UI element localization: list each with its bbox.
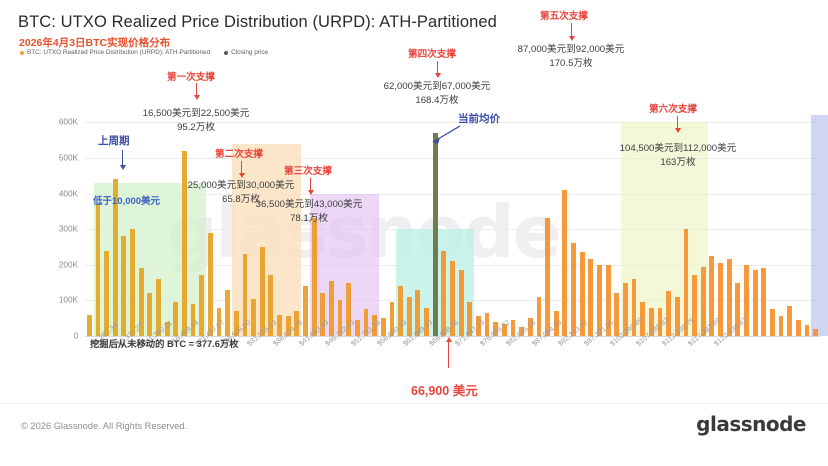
urpd-bar[interactable] — [744, 265, 749, 336]
urpd-bar[interactable] — [130, 229, 135, 336]
annotation-fourth-support-line1: 62,000美元到67,000美元 — [377, 78, 497, 92]
legend-dot-icon — [20, 51, 24, 55]
urpd-bar[interactable] — [459, 270, 464, 336]
footer-divider — [0, 403, 828, 404]
urpd-bar[interactable] — [441, 251, 446, 337]
urpd-bar[interactable] — [251, 299, 256, 336]
urpd-bar[interactable] — [537, 297, 542, 336]
annotation-prev-cycle-title: 上周期 — [98, 133, 130, 148]
annotation-first-support-line2: 95.2万枚 — [136, 119, 256, 133]
urpd-bar[interactable] — [147, 293, 152, 336]
annotation-fifth-support-title: 第五次支撑 — [540, 8, 588, 22]
urpd-bar[interactable] — [208, 233, 213, 336]
current-price-label: 66,900 美元 — [411, 380, 478, 399]
annotation-sixth-support-title: 第六次支撑 — [649, 101, 697, 115]
urpd-bar[interactable] — [225, 290, 230, 336]
page-subtitle: 2026年4月3日BTC实现价格分布 — [19, 35, 170, 50]
annotation-second-support-title: 第二次支撑 — [215, 146, 263, 160]
annotation-first-support-title: 第一次支撑 — [167, 69, 215, 83]
urpd-bar[interactable] — [770, 309, 775, 336]
annotation-fourth-support-arrow-icon — [437, 61, 438, 74]
urpd-bar[interactable] — [614, 293, 619, 336]
annotation-prev-cycle-arrow-icon — [122, 150, 123, 166]
mined-never-moved-note: 挖掘后从未移动的 BTC = 377.6万枚 — [90, 336, 239, 350]
y-axis-tick-label: 300K — [59, 225, 78, 234]
urpd-bar[interactable] — [96, 204, 101, 336]
legend-item-closing-price[interactable]: Closing price — [224, 49, 268, 56]
annotation-third-support-arrow-icon — [310, 178, 311, 191]
page-title: BTC: UTXO Realized Price Distribution (U… — [18, 13, 497, 32]
y-axis-tick-label: 200K — [59, 260, 78, 269]
urpd-bar[interactable] — [545, 218, 550, 336]
legend-item-urpd[interactable]: BTC: UTXO Realized Price Distribution (U… — [20, 49, 210, 56]
current-price-bar[interactable] — [433, 133, 438, 336]
annotation-sixth-support-line2: 163万枚 — [608, 154, 748, 168]
annotation-current-avg-price-title: 当前均价 — [458, 111, 500, 126]
annotation-sixth-support-line1: 104,500美元到112,000美元 — [608, 140, 748, 154]
urpd-bar[interactable] — [87, 315, 92, 336]
chart-page: BTC: UTXO Realized Price Distribution (U… — [0, 0, 828, 466]
copyright-text: © 2026 Glassnode. All Rights Reserved. — [21, 421, 187, 431]
y-axis-tick-label: 600K — [59, 118, 78, 127]
urpd-bar[interactable] — [666, 291, 671, 336]
annotation-third-support-line2: 78.1万枚 — [249, 210, 369, 224]
annotation-third-support-title: 第三次支撑 — [284, 163, 332, 177]
annotation-prev-cycle-inline-label: 低于10,000美元 — [93, 193, 160, 207]
urpd-bar[interactable] — [407, 297, 412, 336]
urpd-bar[interactable] — [779, 316, 784, 336]
urpd-bar[interactable] — [303, 286, 308, 336]
y-axis-tick-label: 0 — [73, 332, 78, 341]
y-axis-tick-label: 400K — [59, 189, 78, 198]
annotation-current-avg-price-arrow-icon — [428, 124, 462, 146]
annotation-first-support-line1: 16,500美元到22,500美元 — [136, 105, 256, 119]
glassnode-logo: glassnode — [696, 412, 806, 436]
urpd-bar[interactable] — [692, 275, 697, 336]
annotation-fourth-support-line2: 168.4万枚 — [377, 92, 497, 106]
fifth-support-band — [811, 115, 828, 336]
legend-label-urpd: BTC: UTXO Realized Price Distribution (U… — [27, 49, 210, 56]
annotation-fifth-support-line1: 87,000美元到92,000美元 — [511, 41, 631, 55]
urpd-bar[interactable] — [813, 329, 818, 336]
urpd-bar[interactable] — [805, 325, 810, 336]
current-price-marker — [448, 341, 449, 368]
urpd-bar[interactable] — [787, 306, 792, 336]
legend-dot-icon — [224, 51, 228, 55]
urpd-bar[interactable] — [329, 281, 334, 336]
annotation-fifth-support-arrow-icon — [571, 23, 572, 37]
legend-label-closing-price: Closing price — [231, 49, 268, 56]
annotation-fourth-support-title: 第四次支撑 — [408, 46, 456, 60]
annotation-third-support-line1: 36,500美元到43,000美元 — [249, 196, 369, 210]
annotation-fifth-support-line2: 170.5万枚 — [511, 55, 631, 69]
annotation-second-support-line1: 25,000美元到30,000美元 — [181, 177, 301, 191]
urpd-bar[interactable] — [312, 218, 317, 336]
y-axis-tick-label: 500K — [59, 153, 78, 162]
urpd-bar[interactable] — [260, 247, 265, 336]
annotation-second-support-arrow-icon — [241, 161, 242, 174]
urpd-bar[interactable] — [571, 243, 576, 336]
urpd-bar[interactable] — [199, 275, 204, 336]
urpd-bar[interactable] — [796, 320, 801, 336]
chart-legend: BTC: UTXO Realized Price Distribution (U… — [20, 49, 268, 56]
urpd-bar[interactable] — [761, 268, 766, 336]
urpd-bar[interactable] — [753, 270, 758, 336]
urpd-bar[interactable] — [562, 190, 567, 336]
annotation-first-support-arrow-icon — [196, 83, 197, 96]
urpd-bar[interactable] — [121, 236, 126, 336]
annotation-sixth-support-arrow-icon — [677, 116, 678, 129]
y-axis-tick-label: 100K — [59, 296, 78, 305]
